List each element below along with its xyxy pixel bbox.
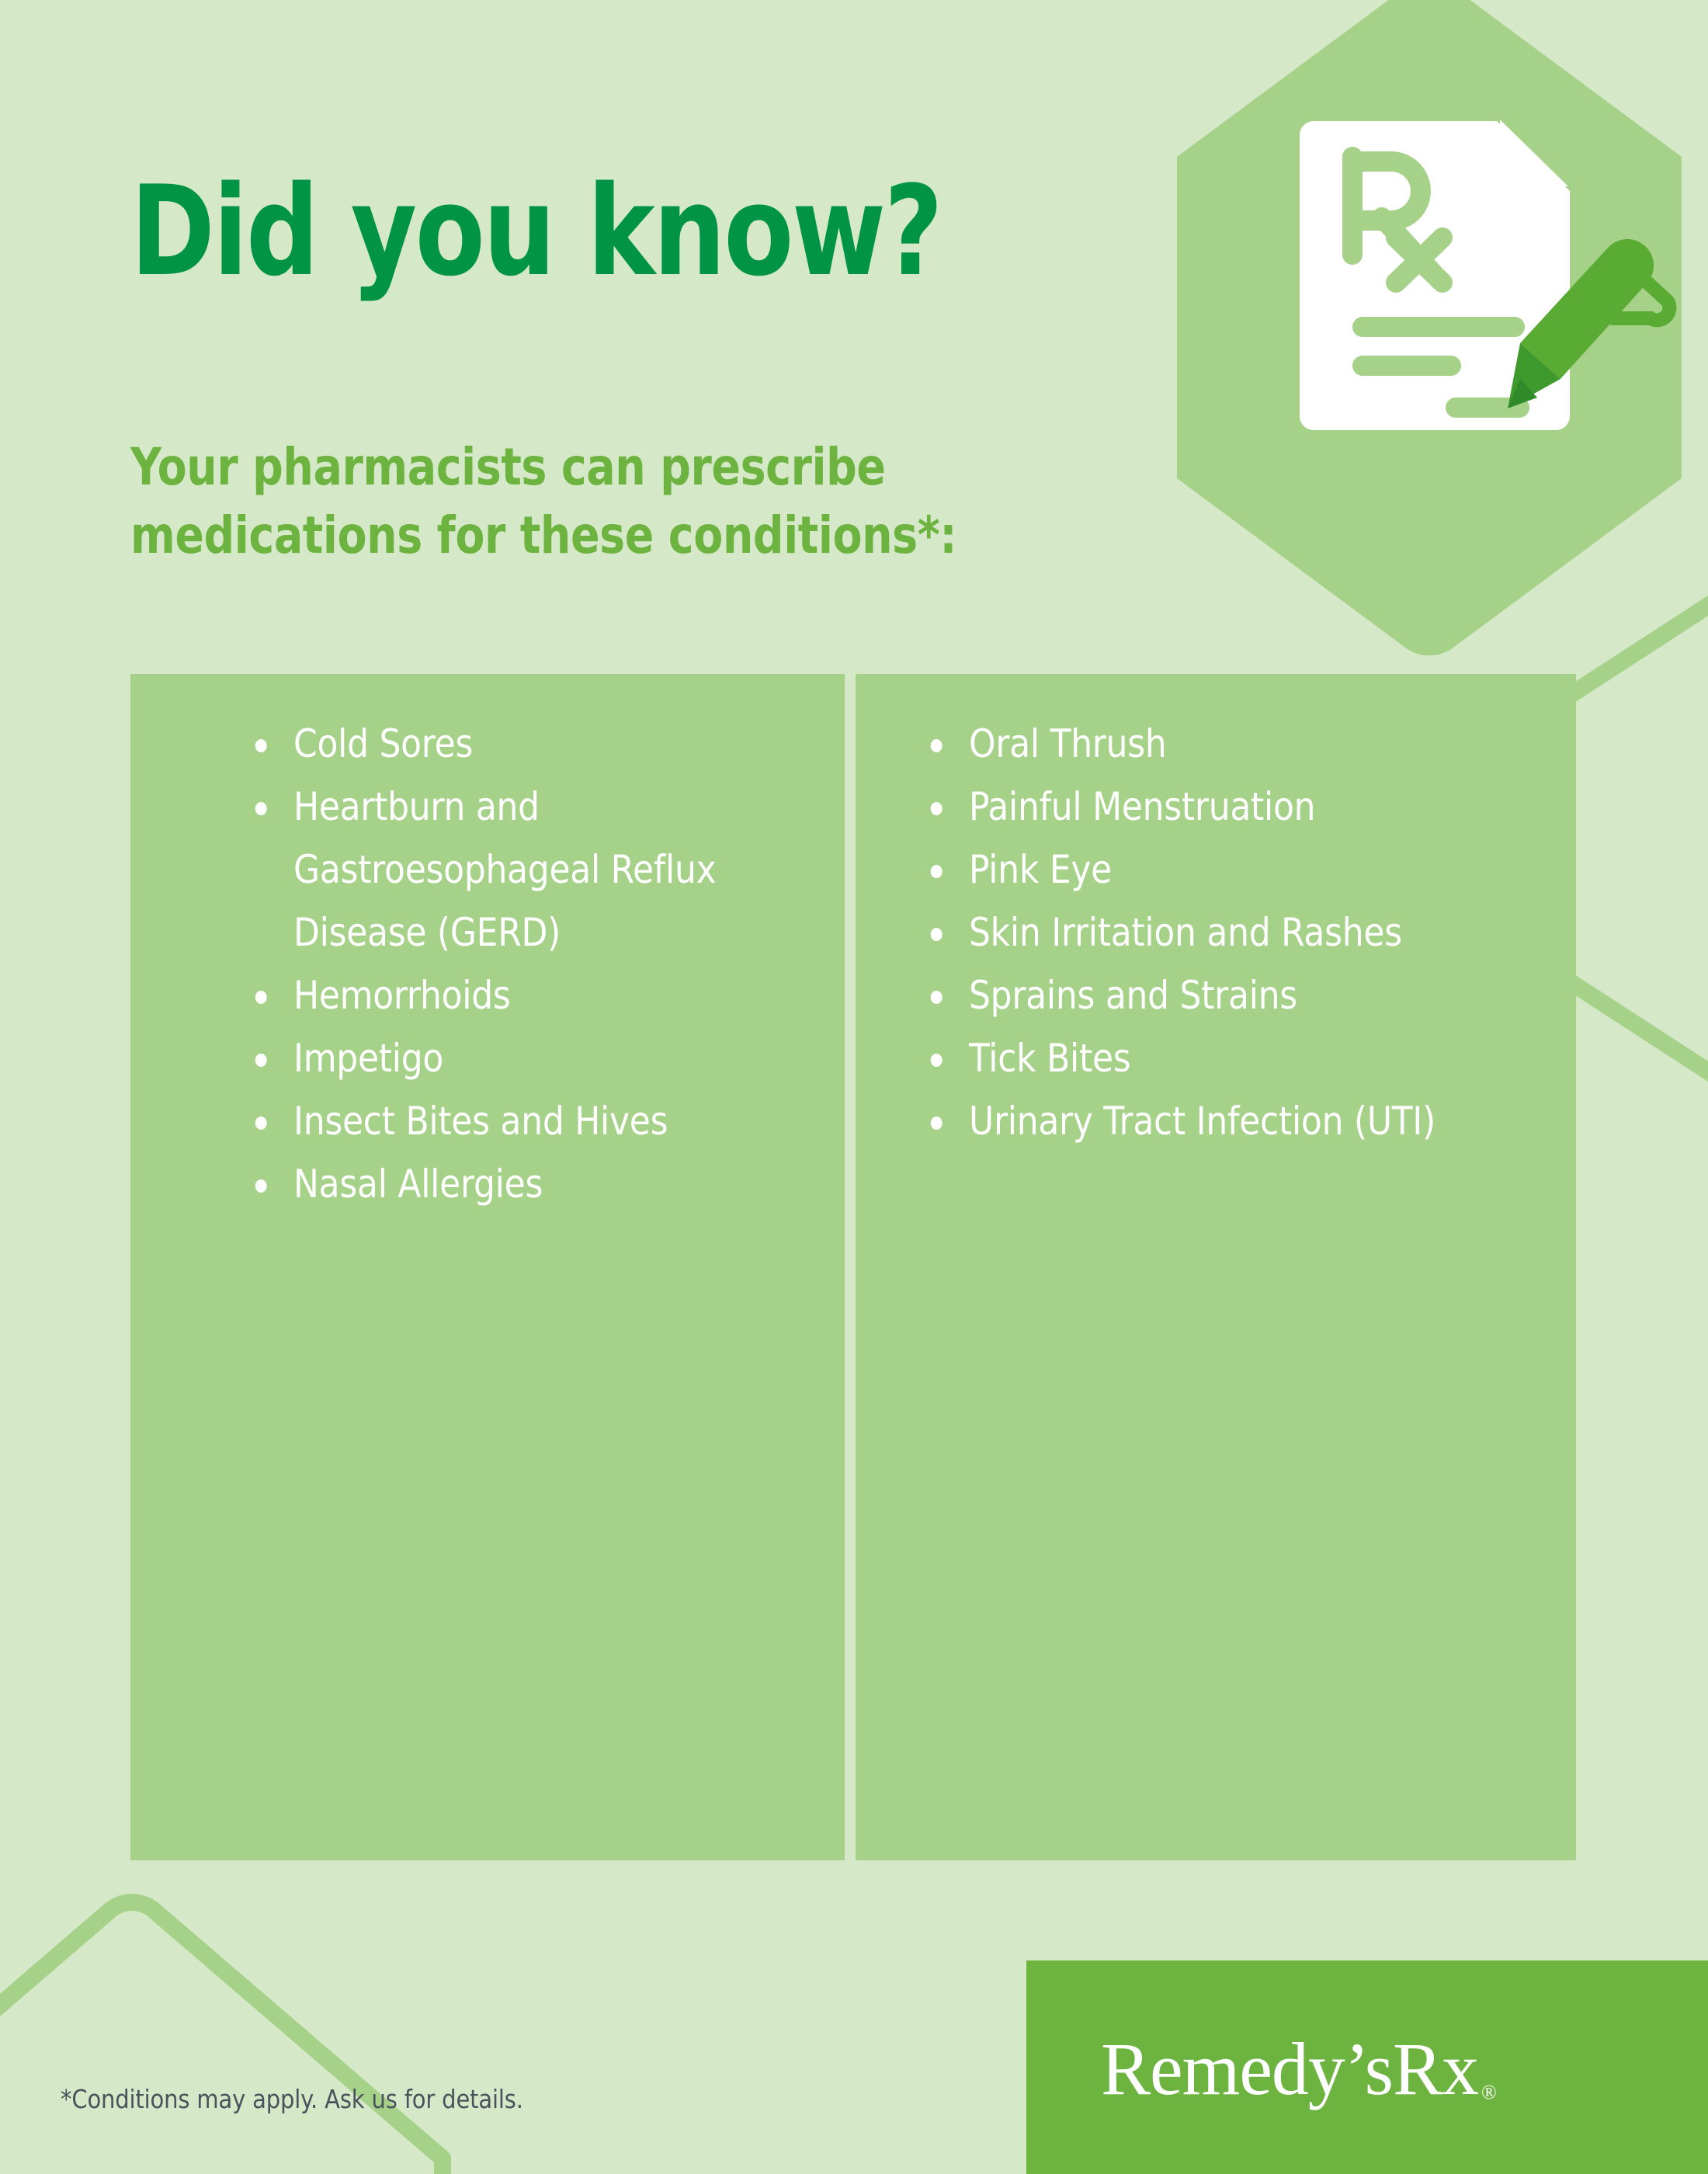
bullet-icon: [255, 991, 267, 1004]
conditions-list-right: Oral Thrush Painful Menstruation Pink Ey…: [856, 713, 1576, 1153]
conditions-list-left: Cold Sores Heartburn and Gastroesophagea…: [130, 713, 845, 1216]
list-item: Pink Eye: [901, 839, 1557, 901]
conditions-panel-left: Cold Sores Heartburn and Gastroesophagea…: [130, 674, 845, 1860]
list-item: Hemorrhoids: [225, 964, 840, 1027]
poster-canvas: Did you know? Your pharmacists can presc…: [0, 0, 1708, 2174]
bullet-icon: [255, 1179, 267, 1193]
hexagon-badge: [1149, 0, 1708, 683]
bullet-icon: [255, 739, 267, 752]
bullet-icon: [255, 1117, 267, 1130]
list-item-label: Insect Bites and Hives: [293, 1099, 668, 1144]
bullet-icon: [931, 865, 943, 878]
list-item-label: Heartburn and Gastroesophageal Reflux Di…: [293, 784, 716, 955]
bullet-icon: [931, 739, 943, 752]
page-subtitle: Your pharmacists can prescribe medicatio…: [130, 433, 956, 570]
list-item: Skin Irritation and Rashes: [901, 901, 1557, 964]
list-item-label: Tick Bites: [969, 1036, 1130, 1081]
list-item: Oral Thrush: [901, 713, 1557, 776]
list-item-label: Hemorrhoids: [293, 973, 511, 1018]
footnote: *Conditions may apply. Ask us for detail…: [61, 2084, 523, 2114]
list-item-label: Painful Menstruation: [969, 784, 1315, 829]
list-item: Sprains and Strains: [901, 964, 1557, 1027]
conditions-panel-right: Oral Thrush Painful Menstruation Pink Ey…: [856, 674, 1576, 1860]
brand-logo-panel: Remedy’sRx®: [1026, 1960, 1708, 2174]
brand-wordmark: Remedy’sRx®: [1101, 2032, 1496, 2106]
list-item: Urinary Tract Infection (UTI): [901, 1090, 1557, 1153]
registered-trademark-icon: ®: [1481, 2081, 1496, 2103]
list-item-label: Impetigo: [293, 1036, 443, 1081]
list-item: Impetigo: [225, 1027, 840, 1090]
bullet-icon: [931, 1054, 943, 1067]
page-title: Did you know?: [130, 169, 941, 293]
list-item: Cold Sores: [225, 713, 840, 776]
list-item-label: Oral Thrush: [969, 721, 1167, 766]
list-item-label: Nasal Allergies: [293, 1162, 543, 1207]
bullet-icon: [931, 991, 943, 1004]
list-item: Heartburn and Gastroesophageal Reflux Di…: [225, 776, 840, 964]
list-item-label: Urinary Tract Infection (UTI): [969, 1099, 1435, 1144]
prescription-document-icon: [1300, 120, 1570, 430]
hexagon-outline-icon: [0, 1879, 466, 2174]
brand-name: Remedy’sRx: [1101, 2027, 1478, 2110]
pen-icon: [1508, 239, 1669, 408]
bullet-icon: [931, 802, 943, 815]
list-item: Tick Bites: [901, 1027, 1557, 1090]
bullet-icon: [255, 802, 267, 815]
bullet-icon: [255, 1054, 267, 1067]
list-item: Painful Menstruation: [901, 776, 1557, 839]
bullet-icon: [931, 928, 943, 941]
list-item-label: Skin Irritation and Rashes: [969, 910, 1402, 955]
bullet-icon: [931, 1117, 943, 1130]
list-item-label: Sprains and Strains: [969, 973, 1297, 1018]
list-item: Nasal Allergies: [225, 1153, 840, 1216]
list-item: Insect Bites and Hives: [225, 1090, 840, 1153]
list-item-label: Pink Eye: [969, 847, 1112, 892]
list-item-label: Cold Sores: [293, 721, 473, 766]
